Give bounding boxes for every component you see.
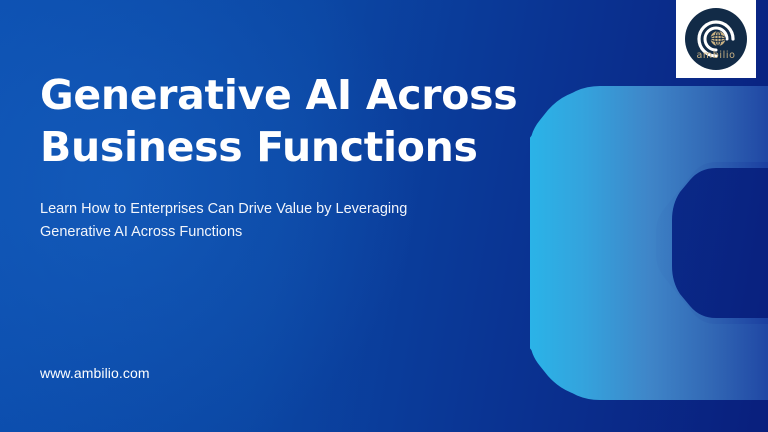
logo-circle: ambilio — [685, 8, 747, 70]
presentation-slide: ambilio Generative AI Across Business Fu… — [0, 0, 768, 432]
ambilio-logo: ambilio — [676, 0, 756, 78]
slide-subtitle: Learn How to Enterprises Can Drive Value… — [40, 198, 470, 245]
website-url: www.ambilio.com — [40, 365, 150, 381]
slide-title: Generative AI Across Business Functions — [40, 70, 540, 173]
logo-wordmark: ambilio — [685, 50, 747, 61]
chevron-arrow-graphic — [530, 84, 768, 402]
